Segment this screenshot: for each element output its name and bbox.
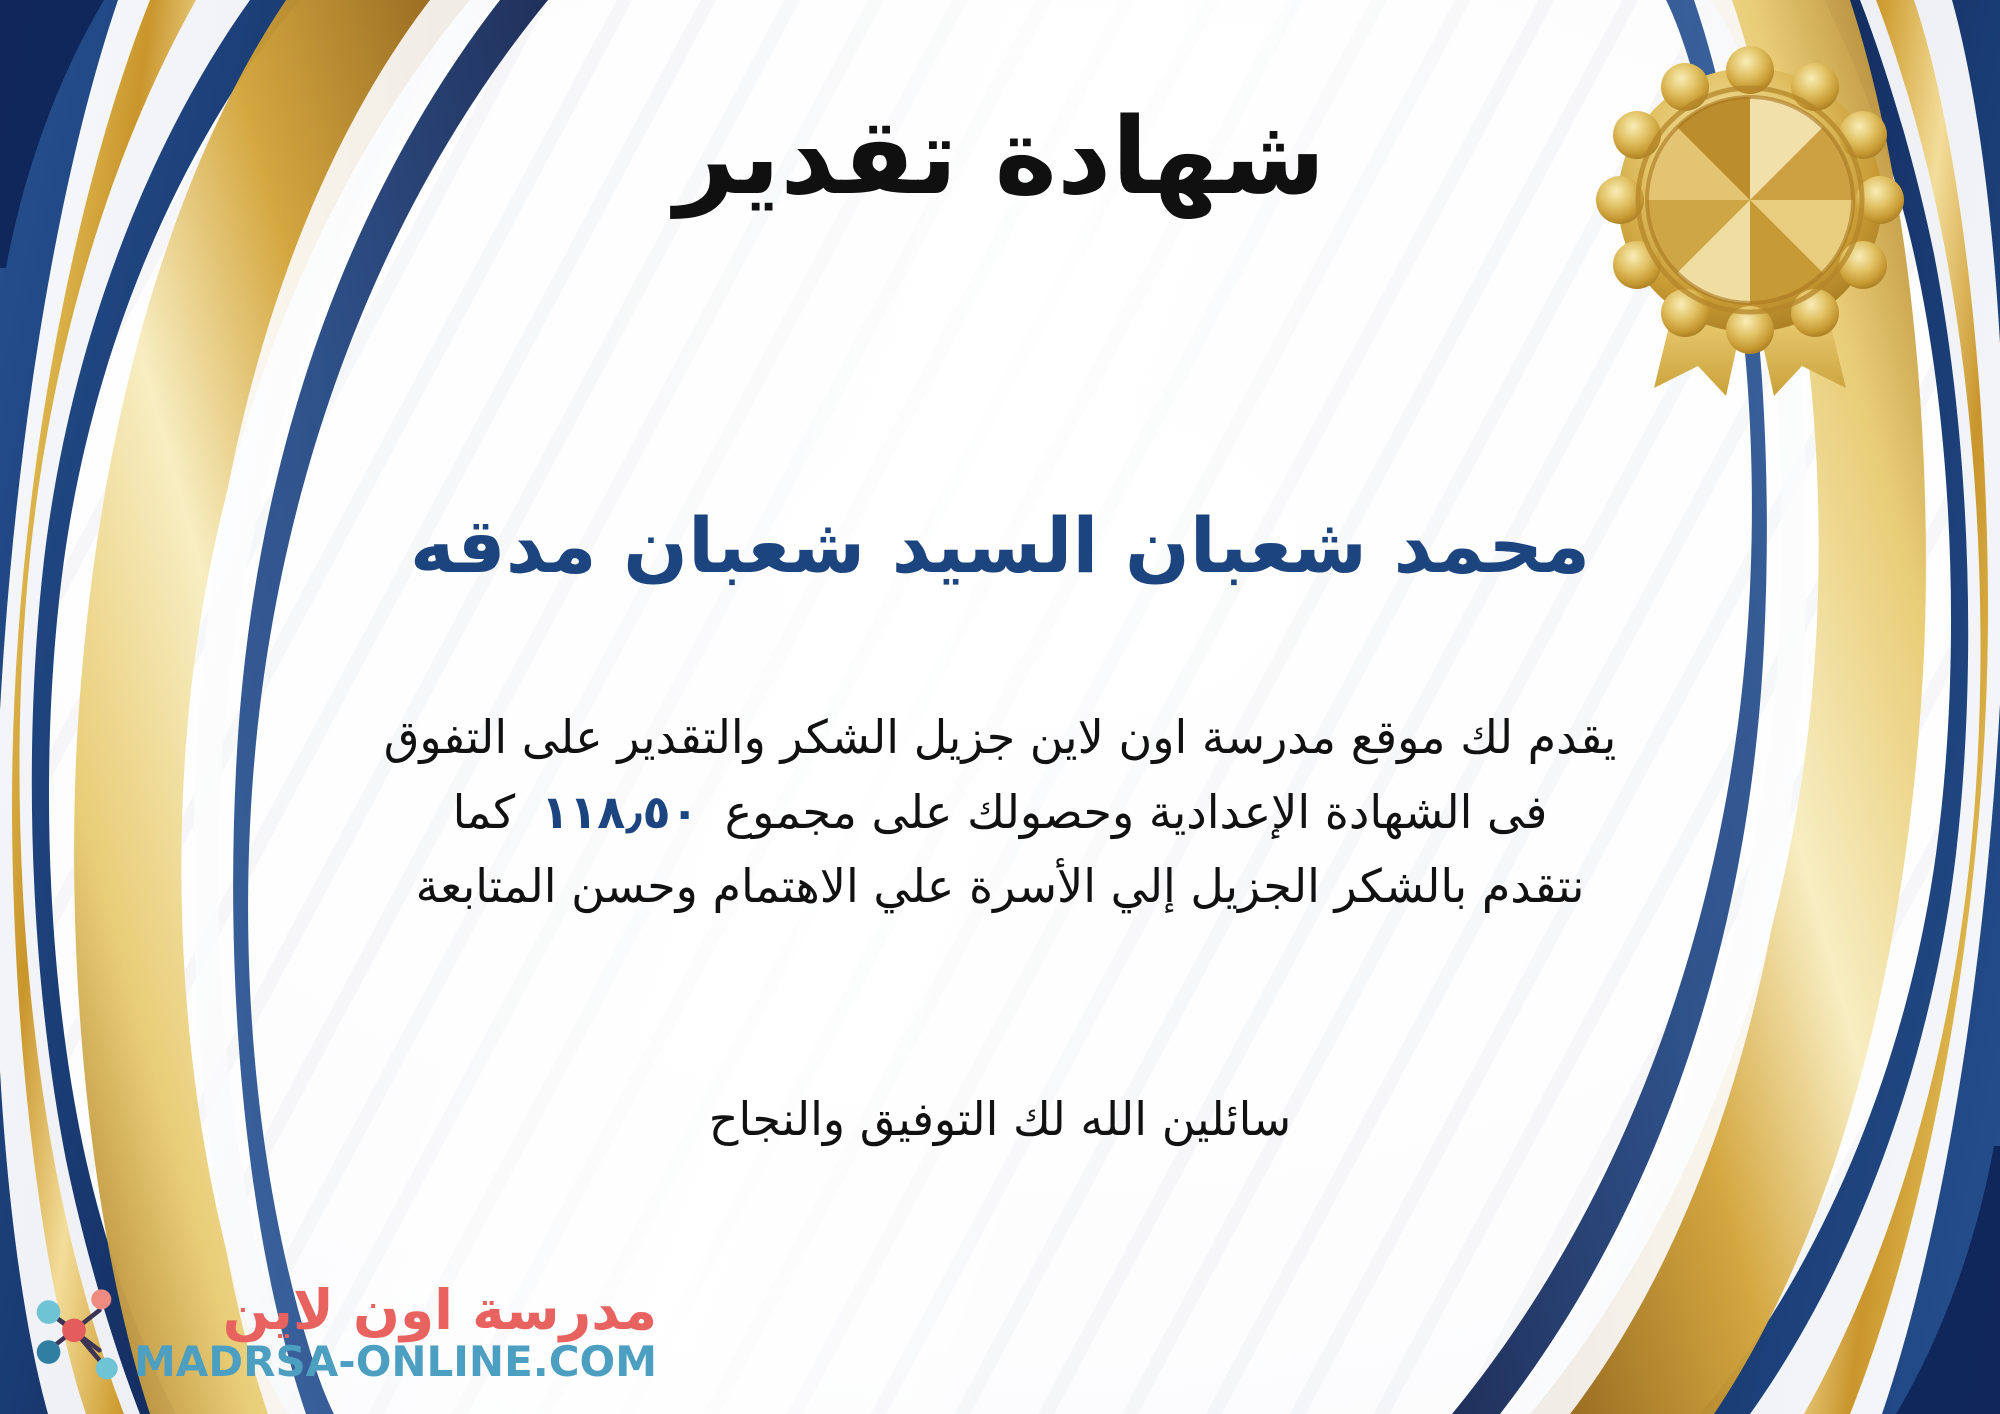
body-line-3: نتقدم بالشكر الجزيل إلي الأسرة علي الاهت… — [40, 849, 1960, 924]
brand-text-block: مدرسة اون لاين MADRSA-ONLINE.COM — [134, 1282, 657, 1384]
score-value: ١١٨٫٥٠ — [515, 785, 725, 839]
network-nodes-icon — [28, 1283, 120, 1383]
body-line-2-prefix: فى الشهادة الإعدادية وحصولك على مجموع — [725, 785, 1548, 839]
closing-line: سائلين الله لك التوفيق والنجاح — [0, 1092, 2000, 1146]
brand-arabic-name: مدرسة اون لاين — [223, 1282, 657, 1340]
recipient-name: محمد شعبان السيد شعبان مدقه — [0, 500, 2000, 591]
body-line-1: يقدم لك موقع مدرسة اون لاين جزيل الشكر و… — [40, 700, 1960, 775]
brand-logo[interactable]: مدرسة اون لاين MADRSA-ONLINE.COM — [28, 1282, 657, 1384]
page-title: شهادة تقدير — [0, 96, 2000, 218]
certificate-body: يقدم لك موقع مدرسة اون لاين جزيل الشكر و… — [40, 700, 1960, 924]
brand-website: MADRSA-ONLINE.COM — [134, 1340, 657, 1384]
body-line-2: فى الشهادة الإعدادية وحصولك على مجموع١١٨… — [40, 775, 1960, 850]
body-line-2-suffix: كما — [453, 785, 516, 839]
certificate-canvas: شهادة تقدير محمد شعبان السيد شعبان مدقه … — [0, 0, 2000, 1414]
